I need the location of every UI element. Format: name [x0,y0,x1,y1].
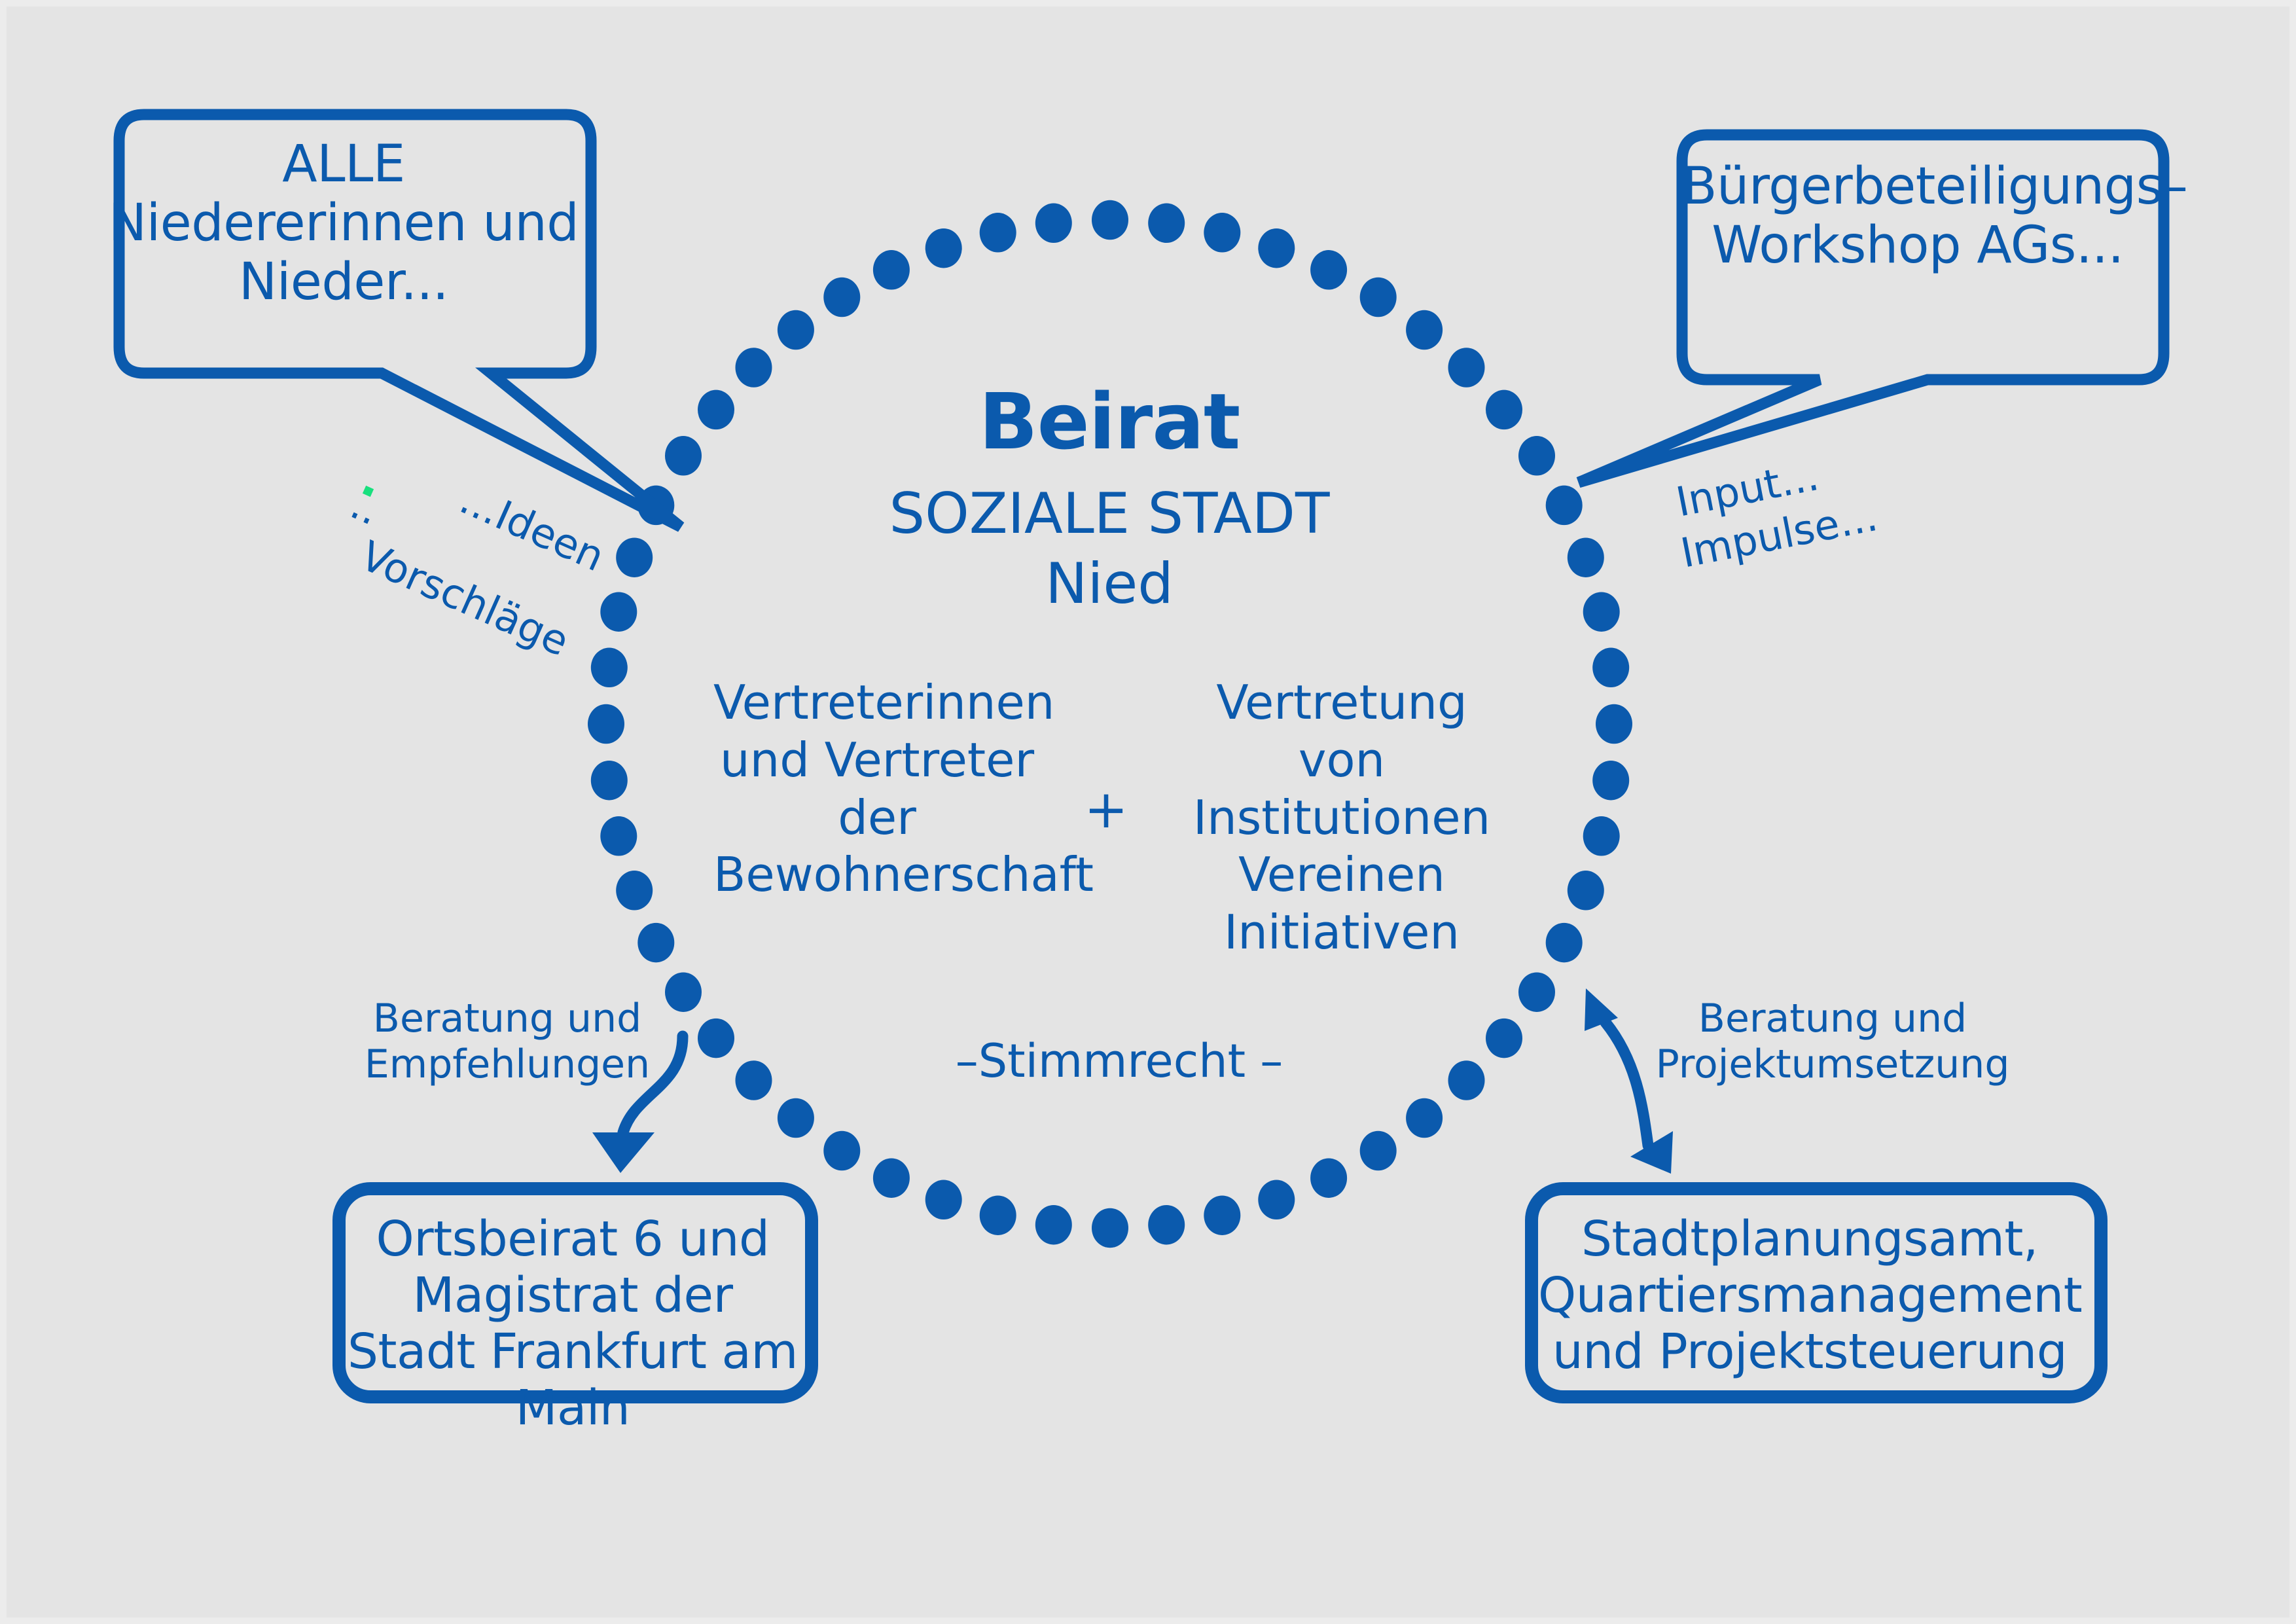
circle-dot [698,1019,734,1058]
circle-dot [1148,1205,1185,1244]
circle-dot [1486,390,1522,429]
circle-dot [698,390,734,429]
box-bottom-left-label: Ortsbeirat 6 und Magistrat der Stadt Fra… [347,1211,798,1436]
circle-dot [637,923,674,962]
circle-dot [1092,1208,1128,1248]
circle-dot [1583,816,1620,856]
circle-dot [1592,761,1629,800]
circle-dot [1035,204,1072,243]
circle-dot [665,972,702,1011]
circle-dot [1204,213,1240,252]
circle-dot [1406,310,1443,350]
page-title: Beirat [782,376,1437,467]
center-column-right: Vertretung von Institutionen Vereinen In… [1178,674,1505,962]
circle-dot [1258,228,1295,268]
circle-dot [1568,871,1604,910]
circle-dot [925,1180,962,1219]
center-subtitle-line2: Nied [782,551,1437,617]
circle-dot [823,1131,860,1170]
circle-dot [665,436,702,475]
plus-symbol: + [1054,779,1158,840]
diagram-canvas: ALLE Niedererinnen und Nieder... Bürgerb… [0,0,2296,1624]
circle-dot [1204,1195,1240,1235]
circle-dot [1546,486,1583,525]
annotation-beratung-empfehlungen: Beratung und Empfehlungen [353,996,661,1087]
circle-dot [1518,436,1555,475]
circle-dot [591,761,628,800]
circle-dot [591,648,628,687]
circle-dot [1092,200,1128,240]
circle-dot [736,1060,772,1100]
circle-dot [1546,923,1583,962]
center-subtitle-line1: SOZIALE STADT [782,481,1437,547]
circle-dot [823,278,860,317]
circle-dot [1568,537,1604,577]
circle-dot [1035,1205,1072,1244]
circle-dot [980,213,1016,252]
circle-dot [1406,1098,1443,1138]
circle-dot [1448,348,1485,387]
circle-dot [600,592,637,631]
circle-dot [980,1195,1016,1235]
circle-dot [1258,1180,1295,1219]
center-column-left: Vertreterinnen und Vertreter der Bewohne… [713,674,1041,904]
annotation-beratung-projektumsetzung: Beratung und Projektumsetzung [1636,996,2029,1087]
circle-dot [1360,1131,1397,1170]
circle-dot [1360,278,1397,317]
circle-dot [873,1158,910,1197]
circle-dot [1148,204,1185,243]
circle-dot [778,310,814,350]
circle-dot [1592,648,1629,687]
bubble-top-right-label: Bürgerbeteiligungs– Workshop AGs... [1682,157,2153,275]
circle-dot [1310,250,1347,289]
circle-dot [1518,972,1555,1011]
circle-dot [778,1098,814,1138]
bubble-top-left-label: ALLE Niedererinnen und Nieder... [105,135,583,312]
circle-dot [1583,592,1620,631]
circle-dot [616,537,653,577]
circle-dot [1486,1019,1522,1058]
circle-dot [1310,1158,1347,1197]
circle-dot [736,348,772,387]
circle-dot [588,704,624,744]
circle-dot [873,250,910,289]
circle-dot [616,871,653,910]
circle-dot [925,228,962,268]
box-bottom-right-label: Stadtplanungsamt, Quartiersmanagement un… [1538,1211,2081,1380]
circle-dot [1596,704,1632,744]
voting-rights-note: –Stimmrecht – [890,1034,1348,1088]
circle-dot [1448,1060,1485,1100]
circle-dot [600,816,637,856]
